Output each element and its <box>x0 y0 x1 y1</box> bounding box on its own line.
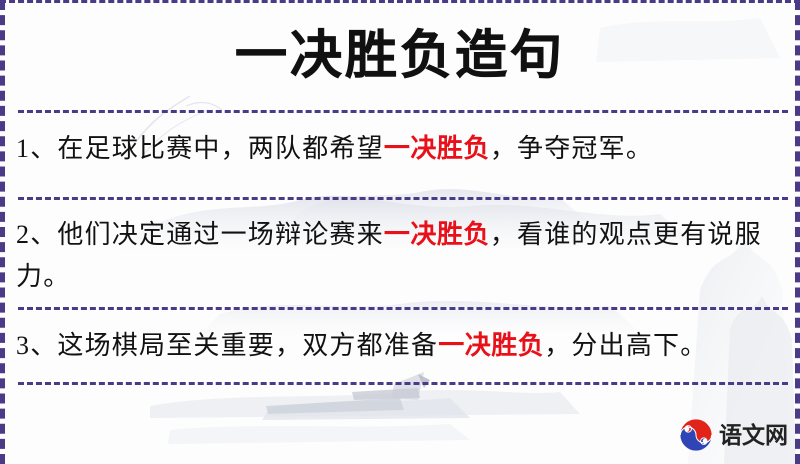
sentence-text-before-1: 在足球比赛中，两队都希望 <box>57 134 383 163</box>
sentence-text-after-1: ，争夺冠军。 <box>490 134 653 163</box>
slide-page: 一决胜负造句 1、在足球比赛中，两队都希望一决胜负，争夺冠军。 2、他们决定通过… <box>0 0 800 464</box>
taiji-circle-icon <box>679 418 713 452</box>
keyword-highlight-1: 一决胜负 <box>384 134 490 163</box>
divider-rule-3 <box>18 307 788 310</box>
sentence-index-2: 2、 <box>16 220 57 249</box>
sentence-text-before-3: 这场棋局至关重要，双方都准备 <box>57 331 438 360</box>
keyword-highlight-3: 一决胜负 <box>438 331 544 360</box>
sentence-item-1: 1、在足球比赛中，两队都希望一决胜负，争夺冠军。 <box>16 128 778 170</box>
sentence-index-1: 1、 <box>16 134 57 163</box>
sentence-item-2: 2、他们决定通过一场辩论赛来一决胜负，看谁的观点更有说服力。 <box>16 214 778 298</box>
site-logo[interactable]: 语文网 <box>679 418 788 452</box>
divider-rule-1 <box>18 110 788 113</box>
sentence-text-after-3: ，分出高下。 <box>544 331 707 360</box>
divider-rule-2 <box>18 197 788 200</box>
site-logo-text: 语文网 <box>719 424 788 447</box>
sentence-text-before-2: 他们决定通过一场辩论赛来 <box>57 220 383 249</box>
title-area: 一决胜负造句 <box>0 14 800 100</box>
divider-rule-4 <box>18 382 788 385</box>
sentence-index-3: 3、 <box>16 331 57 360</box>
page-title: 一决胜负造句 <box>235 31 565 83</box>
sentence-item-3: 3、这场棋局至关重要，双方都准备一决胜负，分出高下。 <box>16 325 778 367</box>
slide-content: 一决胜负造句 1、在足球比赛中，两队都希望一决胜负，争夺冠军。 2、他们决定通过… <box>0 0 800 464</box>
keyword-highlight-2: 一决胜负 <box>384 220 490 249</box>
